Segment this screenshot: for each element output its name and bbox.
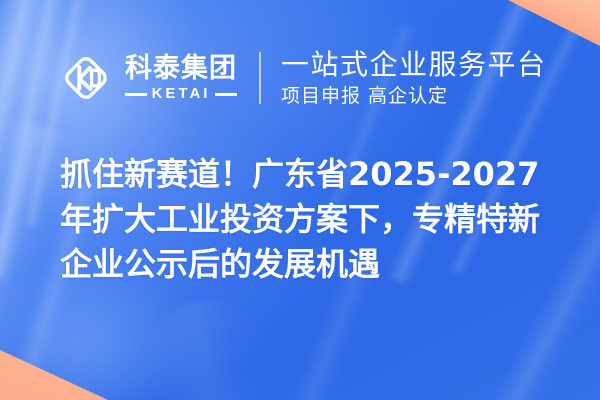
vertical-divider-icon [259,52,261,104]
brand-name-cn: 科泰集团 [125,54,237,84]
brand-wordmark: 科泰集团 KETAI [125,54,237,102]
brand-name-en-row: KETAI [125,86,237,102]
brand-logo[interactable]: 科泰集团 KETAI [58,50,237,106]
banner-header: 科泰集团 KETAI 一站式企业服务平台 项目申报 高企认定 [58,44,547,112]
wordmark-rule-right [215,93,237,96]
tagline-primary: 一站式企业服务平台 [281,48,547,82]
brand-name-en: KETAI [152,86,211,102]
promo-banner: 科泰集团 KETAI 一站式企业服务平台 项目申报 高企认定 抓住新赛道！广东省… [0,0,600,400]
ketai-diamond-kd-logo-icon [58,50,114,106]
tagline-secondary: 项目申报 高企认定 [281,84,547,108]
banner-headline: 抓住新赛道！广东省2025-2027年扩大工业投资方案下，专精特新企业公示后的发… [60,152,552,287]
brand-tagline: 一站式企业服务平台 项目申报 高企认定 [281,48,547,108]
wordmark-rule-left [125,93,147,96]
